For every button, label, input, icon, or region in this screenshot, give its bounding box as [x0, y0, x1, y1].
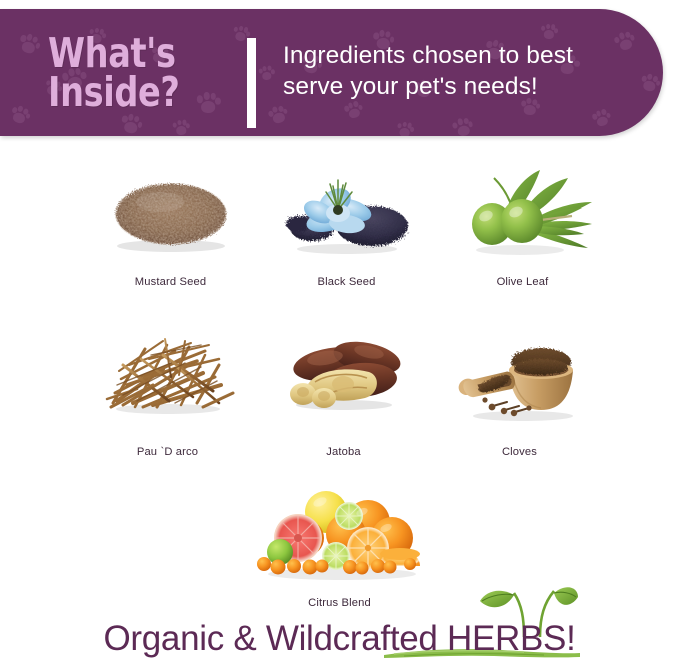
ingredient-label: Cloves: [502, 446, 537, 458]
ingredient-label: Jatoba: [326, 446, 361, 458]
ingredient-card-pau-d-arco: Pau `D arco: [80, 315, 256, 458]
ingredient-label: Citrus Blend: [308, 597, 371, 609]
header-banner: What's Inside? Ingredients chosen to bes…: [0, 9, 663, 136]
mustard-seed-image: [96, 150, 246, 262]
pau-d-arco-image: [93, 315, 243, 427]
olive-leaf-image: [448, 158, 598, 270]
ingredient-label: Pau `D arco: [137, 446, 198, 458]
citrus-blend-image: [250, 482, 430, 587]
ingredient-card-olive-leaf: Olive Leaf: [435, 158, 611, 288]
cloves-image: [445, 320, 595, 432]
banner-subline: Ingredients chosen to best serve your pe…: [283, 40, 653, 103]
ingredient-card-citrus-blend: Citrus Blend: [225, 482, 455, 609]
jatoba-image: [269, 310, 419, 422]
banner-divider: [247, 38, 256, 128]
ingredient-card-black-seed: Black Seed: [259, 154, 435, 288]
ingredient-row: Pau `D arco: [0, 310, 679, 458]
ingredient-label: Black Seed: [317, 276, 375, 288]
ingredient-card-mustard-seed: Mustard Seed: [83, 150, 259, 288]
ingredient-row: Mustard Seed: [0, 150, 679, 288]
ingredient-label: Olive Leaf: [497, 276, 549, 288]
banner-background: What's Inside? Ingredients chosen to bes…: [0, 9, 663, 136]
banner-headline: What's Inside?: [48, 34, 253, 111]
black-seed-image: [272, 154, 422, 266]
tagline-section: Organic & Wildcrafted HERBS!: [0, 619, 679, 659]
ingredient-card-cloves: Cloves: [432, 320, 608, 458]
ingredient-card-jatoba: Jatoba: [256, 310, 432, 458]
ingredient-grid: Mustard Seed: [0, 150, 679, 609]
tagline-text: Organic & Wildcrafted HERBS!: [103, 619, 575, 658]
ingredient-label: Mustard Seed: [135, 276, 206, 288]
